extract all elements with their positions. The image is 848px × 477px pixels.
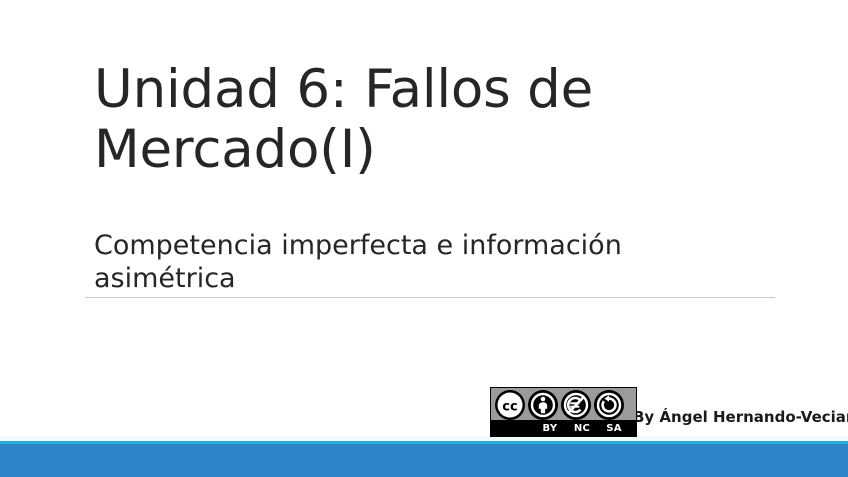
license-icon-row: cc	[491, 388, 636, 422]
attribution-person-icon	[528, 390, 558, 420]
license-term-by: BY	[534, 423, 566, 434]
sharealike-icon	[594, 390, 624, 420]
page-title: Unidad 6: Fallos de Mercado(I)	[94, 60, 714, 180]
slide-subtitle: Competencia imperfecta e información asi…	[94, 229, 719, 295]
subtitle-placeholder[interactable]: Competencia imperfecta e información asi…	[94, 229, 719, 295]
license-term-nc: NC	[566, 423, 598, 434]
footer-band	[0, 444, 848, 477]
license-terms-row: BY NC SA	[491, 420, 636, 436]
license-term-sa: SA	[598, 423, 630, 434]
title-placeholder[interactable]: Unidad 6: Fallos de Mercado(I)	[94, 60, 714, 180]
title-divider-rule	[85, 297, 775, 298]
cc-icon: cc	[495, 390, 525, 420]
noncommercial-euro-icon	[561, 390, 591, 420]
creative-commons-license-badge[interactable]: cc	[490, 387, 637, 437]
svg-text:cc: cc	[502, 400, 517, 415]
credit-row: cc	[490, 387, 848, 437]
presentation-slide: Unidad 6: Fallos de Mercado(I) Competenc…	[0, 0, 848, 477]
author-attribution: By Ángel Hernando-Veciana	[633, 410, 848, 425]
